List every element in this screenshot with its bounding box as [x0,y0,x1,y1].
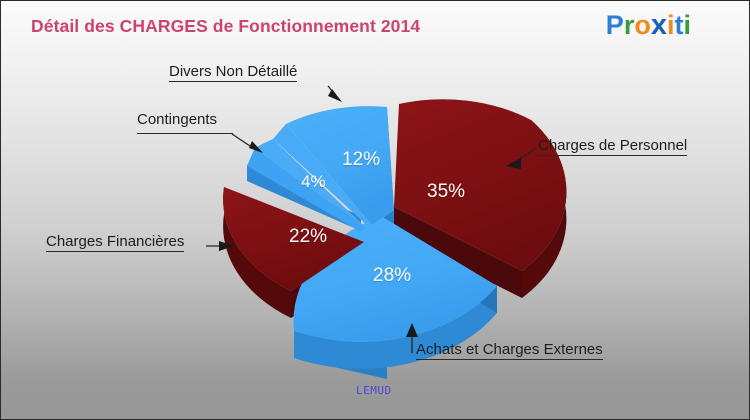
pie-chart: 35% 28% 22% 4% 12% [1,1,750,420]
pie-chart-graphic [1,1,750,420]
callout-label-divers-non-detaille: Divers Non Détaillé [169,63,297,82]
watermark: LEMUD [356,384,392,397]
callout-label-charges-financieres: Charges Financières [46,233,184,252]
callout-label-contingents: Contingents [137,111,232,129]
callout-label-achats-charges-externes: Achats et Charges Externes [416,341,603,360]
callout-underline-contingents [137,133,233,134]
chart-screenshot: Détail des CHARGES de Fonctionnement 201… [0,0,750,420]
callout-label-charges-personnel: Charges de Personnel [538,137,687,156]
